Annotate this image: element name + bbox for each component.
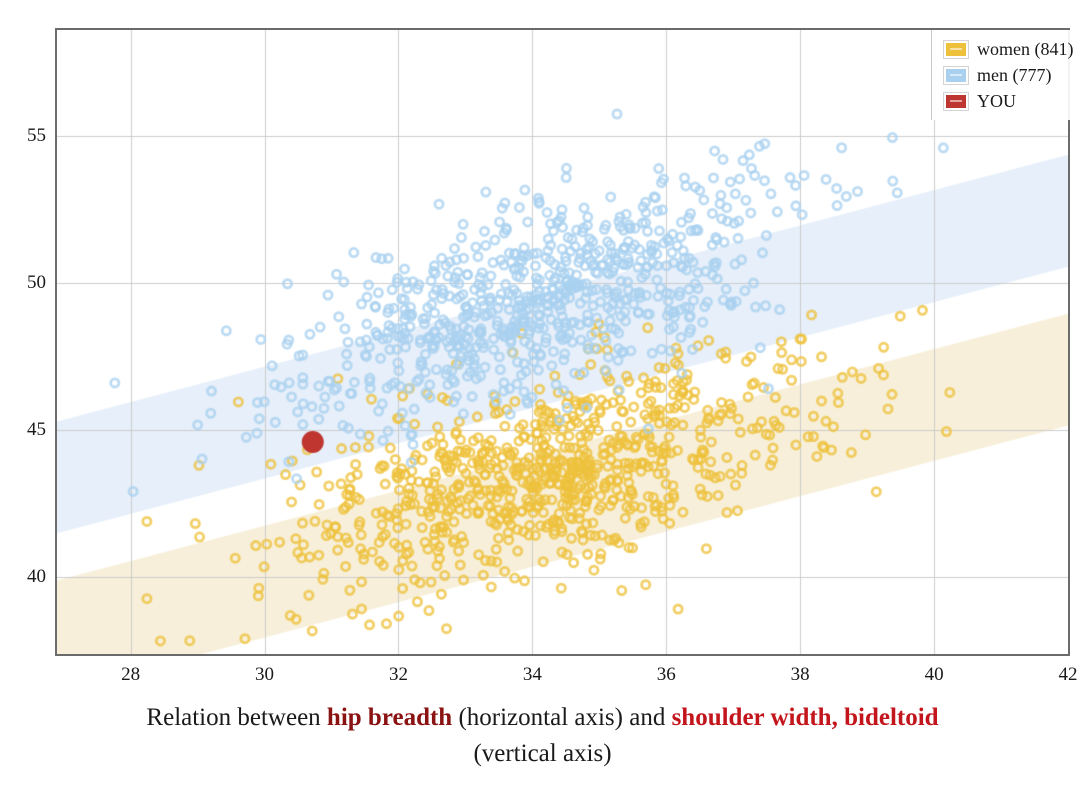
legend-label-men: men (777)	[977, 65, 1051, 86]
legend-swatch-you	[944, 93, 968, 110]
y-tick-50: 50	[2, 272, 46, 294]
y-tick-40: 40	[2, 566, 46, 588]
scatter-canvas[interactable]	[57, 30, 1068, 654]
caption-shoulder-width: shoulder width, bideltoid	[672, 704, 939, 731]
plot-area[interactable]	[55, 28, 1070, 656]
x-tick-28: 28	[121, 664, 140, 686]
figure-caption: Relation between hip breadth (horizontal…	[0, 700, 1085, 772]
legend-item-you[interactable]: YOU	[944, 88, 1073, 114]
x-tick-32: 32	[389, 664, 408, 686]
scatter-plot-figure: 283032343638404240455055 women (841)men …	[0, 0, 1085, 791]
legend-item-women[interactable]: women (841)	[944, 36, 1073, 62]
y-tick-55: 55	[2, 125, 46, 147]
legend-label-women: women (841)	[977, 39, 1073, 60]
legend-label-you: YOU	[977, 91, 1016, 112]
x-tick-34: 34	[523, 664, 542, 686]
caption-part3: (vertical axis)	[473, 740, 611, 767]
x-tick-36: 36	[657, 664, 676, 686]
legend-item-men[interactable]: men (777)	[944, 62, 1073, 88]
x-tick-38: 38	[791, 664, 810, 686]
caption-hip-breadth: hip breadth	[327, 704, 452, 731]
legend-swatch-men	[944, 67, 968, 84]
y-tick-45: 45	[2, 419, 46, 441]
x-tick-30: 30	[255, 664, 274, 686]
legend-swatch-women	[944, 41, 968, 58]
legend[interactable]: women (841)men (777)YOU	[931, 30, 1081, 120]
x-tick-42: 42	[1059, 664, 1078, 686]
caption-part1: Relation between	[146, 704, 327, 731]
x-tick-40: 40	[925, 664, 944, 686]
caption-part2: (horizontal axis) and	[452, 704, 671, 731]
